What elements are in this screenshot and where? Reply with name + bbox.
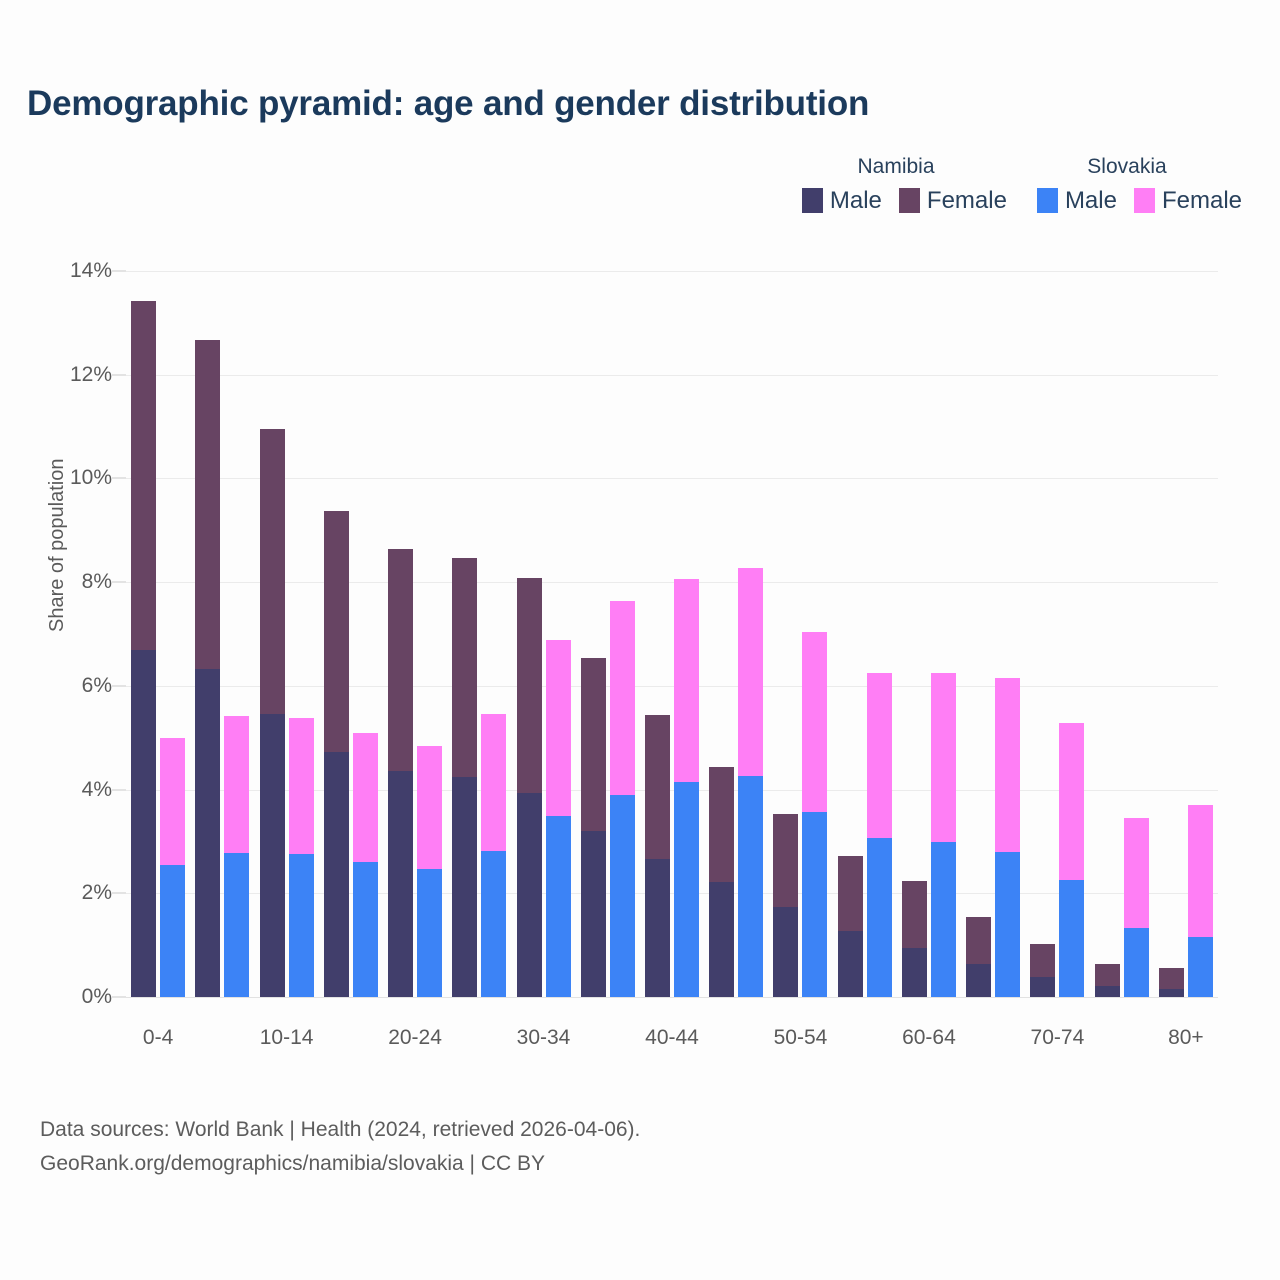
bar-segment-slovakia-male: [1188, 937, 1213, 997]
bar-segment-slovakia-male: [546, 816, 571, 998]
bar-segment-namibia-male: [709, 882, 734, 997]
bar-segment-slovakia-female: [995, 678, 1020, 853]
bar-namibia[interactable]: [131, 301, 156, 997]
bar-namibia[interactable]: [388, 549, 413, 997]
legend-keys: Male Female Male Female: [802, 188, 1242, 213]
legend-swatch-slovakia-female: [1134, 188, 1155, 213]
x-axis-tick-label: 50-54: [774, 1026, 828, 1050]
y-axis-tick-mark: [112, 582, 126, 583]
footer-line-sources: Data sources: World Bank | Health (2024,…: [40, 1113, 640, 1147]
bar-slovakia[interactable]: [417, 746, 442, 997]
y-axis-label: Share of population: [46, 459, 69, 632]
y-axis-tick-label: 14%: [70, 259, 112, 283]
bar-slovakia[interactable]: [995, 678, 1020, 997]
legend-swatch-namibia-female: [899, 188, 920, 213]
bar-slovakia[interactable]: [353, 733, 378, 997]
y-axis-tick-mark: [112, 997, 126, 998]
bar-slovakia[interactable]: [1124, 818, 1149, 997]
bar-group[interactable]: [131, 271, 185, 997]
bar-slovakia[interactable]: [867, 673, 892, 997]
bar-segment-namibia-female: [195, 340, 220, 669]
y-axis-tick-label: 0%: [82, 985, 112, 1009]
legend-label-slovakia-male: Male: [1065, 189, 1117, 213]
bar-segment-namibia-female: [324, 511, 349, 753]
bar-slovakia[interactable]: [546, 640, 571, 997]
footer-line-attribution: GeoRank.org/demographics/namibia/slovaki…: [40, 1147, 640, 1181]
bar-segment-namibia-female: [1030, 944, 1055, 977]
y-axis-tick-label: 10%: [70, 466, 112, 490]
bar-namibia[interactable]: [1030, 944, 1055, 997]
bar-group[interactable]: [709, 271, 763, 997]
bar-segment-namibia-male: [324, 752, 349, 997]
bar-segment-namibia-male: [1095, 986, 1120, 997]
bar-group[interactable]: [838, 271, 892, 997]
x-axis-tick-label: 30-34: [517, 1026, 571, 1050]
bar-group[interactable]: [902, 271, 956, 997]
bar-group[interactable]: [517, 271, 571, 997]
bar-segment-slovakia-female: [224, 716, 249, 852]
bar-namibia[interactable]: [902, 881, 927, 997]
bar-segment-slovakia-male: [931, 842, 956, 997]
x-axis-tick-label: 0-4: [143, 1026, 173, 1050]
bar-group[interactable]: [260, 271, 314, 997]
legend-group-namibia: Namibia: [780, 155, 1012, 179]
bar-slovakia[interactable]: [738, 568, 763, 997]
bar-segment-slovakia-female: [867, 673, 892, 838]
bar-segment-slovakia-male: [802, 812, 827, 997]
bar-segment-slovakia-male: [610, 795, 635, 997]
bar-slovakia[interactable]: [931, 673, 956, 997]
bar-segment-slovakia-female: [353, 733, 378, 863]
x-axis-tick-label: 10-14: [260, 1026, 314, 1050]
chart-title: Demographic pyramid: age and gender dist…: [27, 84, 869, 124]
y-axis-tick-mark: [112, 789, 126, 790]
bar-segment-namibia-female: [452, 558, 477, 777]
y-axis-tick-label: 8%: [82, 570, 112, 594]
bar-group[interactable]: [1095, 271, 1149, 997]
bar-segment-slovakia-female: [160, 738, 185, 865]
legend-label-namibia-male: Male: [830, 189, 882, 213]
bar-namibia[interactable]: [260, 429, 285, 997]
bar-segment-namibia-female: [773, 814, 798, 907]
bar-namibia[interactable]: [645, 715, 670, 997]
bar-segment-namibia-male: [581, 831, 606, 997]
x-axis-tick-label: 40-44: [645, 1026, 699, 1050]
x-axis-tick-label: 60-64: [902, 1026, 956, 1050]
legend-item-namibia-female[interactable]: Female: [899, 188, 1007, 213]
bar-namibia[interactable]: [517, 578, 542, 997]
legend-group-slovakia: Slovakia: [1012, 155, 1242, 179]
bar-slovakia[interactable]: [802, 632, 827, 997]
bar-segment-slovakia-male: [867, 838, 892, 997]
bar-slovakia[interactable]: [481, 714, 506, 997]
x-axis-tick-label: 70-74: [1031, 1026, 1085, 1050]
bar-segment-slovakia-female: [1124, 818, 1149, 928]
bar-segment-namibia-male: [388, 771, 413, 997]
bar-group[interactable]: [645, 271, 699, 997]
gridline: [126, 997, 1218, 998]
bar-segment-namibia-male: [902, 948, 927, 997]
bar-segment-namibia-male: [966, 964, 991, 997]
bar-segment-namibia-female: [1095, 964, 1120, 986]
bar-segment-slovakia-female: [802, 632, 827, 812]
bar-segment-slovakia-female: [289, 718, 314, 854]
bar-group[interactable]: [195, 271, 249, 997]
bar-segment-namibia-female: [260, 429, 285, 715]
legend-swatch-slovakia-male: [1037, 188, 1058, 213]
bar-namibia[interactable]: [709, 767, 734, 997]
legend-label-slovakia-female: Female: [1162, 189, 1242, 213]
bar-segment-namibia-female: [838, 856, 863, 930]
bar-segment-slovakia-female: [1059, 723, 1084, 880]
x-axis-tick-label: 80+: [1168, 1026, 1204, 1050]
bar-segment-namibia-male: [1030, 977, 1055, 997]
bar-group[interactable]: [581, 271, 635, 997]
chart-legend: Namibia Slovakia Male Female Male Female: [780, 155, 1242, 213]
bar-segment-namibia-male: [773, 907, 798, 997]
bar-segment-slovakia-female: [738, 568, 763, 776]
bar-segment-namibia-male: [131, 650, 156, 997]
bar-namibia[interactable]: [1095, 964, 1120, 997]
bar-segment-namibia-female: [517, 578, 542, 793]
y-axis-tick-mark: [112, 893, 126, 894]
bar-group[interactable]: [1159, 271, 1213, 997]
bar-segment-namibia-male: [517, 793, 542, 997]
bar-group[interactable]: [452, 271, 506, 997]
y-axis-tick-label: 2%: [82, 881, 112, 905]
bar-segment-slovakia-female: [610, 601, 635, 795]
bar-slovakia[interactable]: [1188, 805, 1213, 997]
bar-segment-slovakia-male: [417, 869, 442, 997]
bar-segment-slovakia-female: [546, 640, 571, 815]
legend-label-namibia-female: Female: [927, 189, 1007, 213]
bar-segment-slovakia-male: [481, 851, 506, 997]
y-axis-tick-label: 4%: [82, 778, 112, 802]
bar-segment-namibia-male: [452, 777, 477, 997]
y-axis-tick-label: 12%: [70, 363, 112, 387]
bar-namibia[interactable]: [773, 814, 798, 997]
bar-group[interactable]: [966, 271, 1020, 997]
y-axis-tick-mark: [112, 271, 126, 272]
bar-segment-slovakia-male: [160, 865, 185, 997]
y-axis-tick-mark: [112, 374, 126, 375]
bar-namibia[interactable]: [838, 856, 863, 997]
bar-slovakia[interactable]: [610, 601, 635, 997]
bar-namibia[interactable]: [966, 917, 991, 997]
bar-slovakia[interactable]: [289, 718, 314, 998]
bar-segment-slovakia-female: [931, 673, 956, 842]
x-axis-tick-label: 20-24: [388, 1026, 442, 1050]
bar-segment-slovakia-male: [289, 854, 314, 997]
bar-segment-slovakia-male: [1059, 880, 1084, 997]
bar-segment-slovakia-female: [1188, 805, 1213, 937]
y-axis-tick-label: 6%: [82, 674, 112, 698]
bar-group[interactable]: [324, 271, 378, 997]
legend-group-titles: Namibia Slovakia: [780, 155, 1242, 179]
bar-slovakia[interactable]: [224, 716, 249, 997]
bar-segment-namibia-male: [838, 931, 863, 997]
bar-namibia[interactable]: [195, 340, 220, 997]
plot-area: [126, 271, 1218, 997]
bar-segment-namibia-male: [260, 714, 285, 997]
y-axis-tick-mark: [112, 685, 126, 686]
bar-segment-slovakia-male: [995, 852, 1020, 997]
bar-namibia[interactable]: [452, 558, 477, 997]
chart-footer: Data sources: World Bank | Health (2024,…: [40, 1113, 640, 1181]
bar-slovakia[interactable]: [1059, 723, 1084, 997]
bar-namibia[interactable]: [581, 658, 606, 997]
bar-segment-slovakia-male: [1124, 928, 1149, 997]
bar-segment-slovakia-female: [417, 746, 442, 869]
bar-segment-namibia-female: [131, 301, 156, 649]
bar-segment-slovakia-male: [674, 782, 699, 997]
legend-item-namibia-male[interactable]: Male: [802, 188, 882, 213]
bar-group[interactable]: [1030, 271, 1084, 997]
bar-segment-namibia-male: [645, 859, 670, 997]
bar-segment-namibia-female: [581, 658, 606, 831]
bar-namibia[interactable]: [1159, 968, 1184, 997]
bar-segment-namibia-male: [1159, 989, 1184, 997]
bar-segment-slovakia-female: [481, 714, 506, 851]
bar-segment-namibia-female: [645, 715, 670, 859]
bar-segment-slovakia-female: [674, 579, 699, 783]
bar-slovakia[interactable]: [160, 738, 185, 997]
bar-segment-slovakia-male: [353, 862, 378, 997]
y-axis-tick-mark: [112, 478, 126, 479]
bar-group[interactable]: [388, 271, 442, 997]
legend-item-slovakia-male[interactable]: Male: [1037, 188, 1117, 213]
bar-segment-namibia-female: [1159, 968, 1184, 989]
bar-slovakia[interactable]: [674, 579, 699, 997]
bar-segment-namibia-female: [388, 549, 413, 770]
legend-item-slovakia-female[interactable]: Female: [1134, 188, 1242, 213]
bar-group[interactable]: [773, 271, 827, 997]
bar-namibia[interactable]: [324, 511, 349, 997]
bar-segment-namibia-female: [709, 767, 734, 883]
bar-segment-namibia-male: [195, 669, 220, 997]
bar-segment-slovakia-male: [224, 853, 249, 997]
legend-swatch-namibia-male: [802, 188, 823, 213]
bar-segment-namibia-female: [902, 881, 927, 948]
bar-segment-slovakia-male: [738, 776, 763, 997]
bar-segment-namibia-female: [966, 917, 991, 964]
